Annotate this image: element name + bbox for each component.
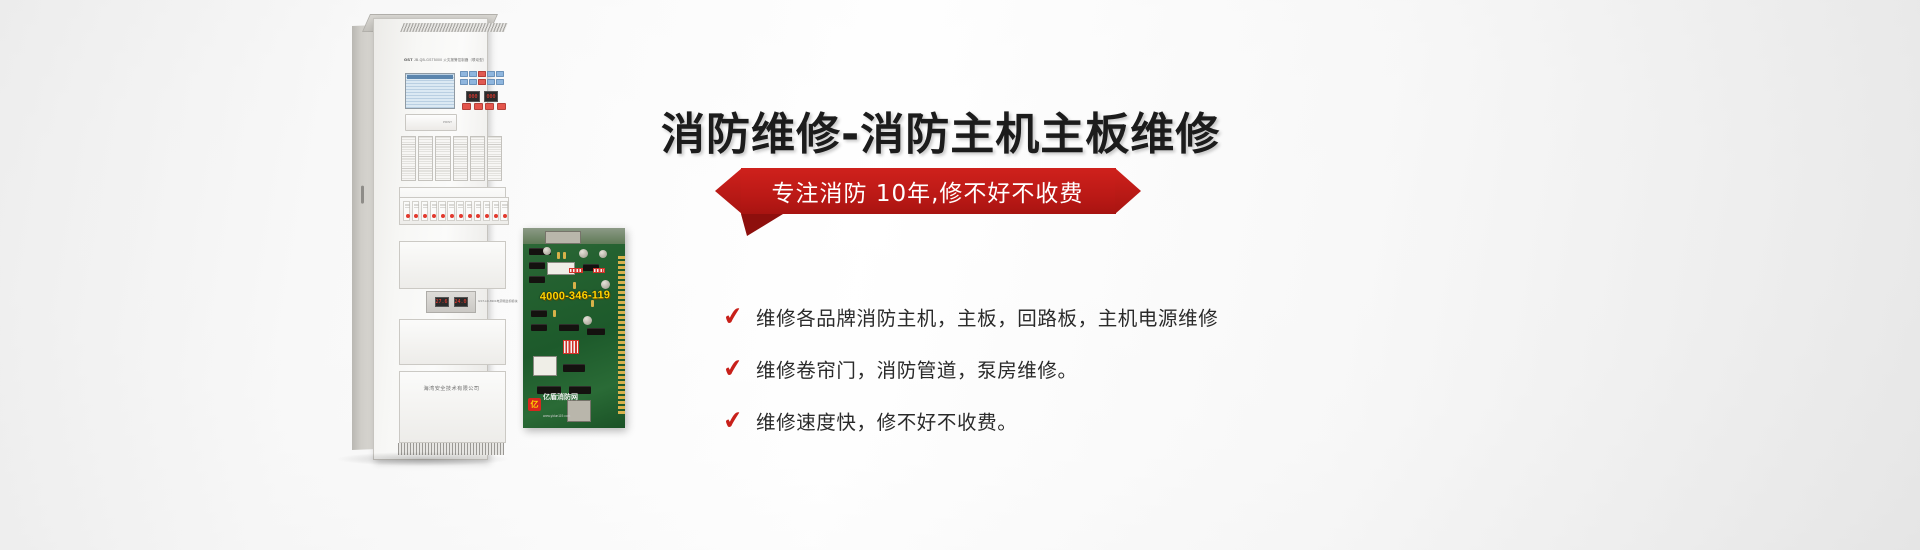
zone-indicator xyxy=(474,201,481,221)
cabinet-door-handle xyxy=(361,186,364,204)
fire-alarm-control-panel-cabinet: GST JB-QB-GST5000 火灾报警控制器（联动型） xyxy=(352,14,492,459)
cabinet-zone-indicator-strip xyxy=(399,197,509,225)
pcb-ic-chip xyxy=(531,310,547,317)
function-button[interactable] xyxy=(462,103,471,110)
keypad-row xyxy=(460,71,504,77)
terminal-module xyxy=(418,136,433,181)
zone-indicator xyxy=(430,201,437,221)
zone-indicator xyxy=(403,201,410,221)
pcb-logo-icon: 亿 xyxy=(528,398,541,411)
pcb-phone-number-overlay: 4000-346-119 xyxy=(529,289,621,303)
keypad-key[interactable] xyxy=(469,71,477,77)
pcb-dip-switch xyxy=(569,268,583,273)
list-item-label: 维修卷帘门，消防管道，泵房维修。 xyxy=(756,354,1078,383)
pcb-logo-name: 亿盾消防网 xyxy=(543,394,578,401)
keypad-key-alarm[interactable] xyxy=(478,71,486,77)
pcb-gold-edge-connector xyxy=(618,256,625,416)
pcb-surface: 4000-346-119 亿 亿盾消防网 www.yidun119.com xyxy=(523,228,625,428)
pcb-ic-chip xyxy=(531,324,547,331)
cabinet-lcd-display xyxy=(405,73,455,109)
pcb-ic-chip xyxy=(559,324,579,331)
cabinet-model-text: JB-QB-GST5000 火灾报警控制器（联动型） xyxy=(414,58,486,62)
power-panel-label: GST-LD-8301电源箱监视模块 xyxy=(478,299,518,303)
function-button[interactable] xyxy=(485,103,494,110)
check-icon: ✔ xyxy=(722,354,756,382)
zone-indicator xyxy=(456,201,463,221)
pcb-watermark-logo: 亿 亿盾消防网 www.yidun119.com xyxy=(528,386,578,422)
function-button[interactable] xyxy=(497,103,506,110)
keypad-key[interactable] xyxy=(487,79,495,85)
terminal-module xyxy=(435,136,450,181)
pcb-ic-chip xyxy=(563,364,585,372)
list-item-label: 维修各品牌消防主机，主板，回路板，主机电源维修 xyxy=(756,302,1218,331)
zone-indicator xyxy=(483,201,490,221)
printer-drawer-label: PRINT xyxy=(443,120,452,124)
pcb-resistor xyxy=(573,282,576,289)
pcb-capacitor xyxy=(601,280,610,289)
list-item-label: 维修速度快，修不好不收费。 xyxy=(756,406,1017,435)
zone-indicator xyxy=(421,201,428,221)
keypad-key[interactable] xyxy=(460,71,468,77)
zone-indicator xyxy=(412,201,419,221)
power-voltage-display-left: 27.6 xyxy=(435,297,449,307)
pcb-capacitor xyxy=(599,250,607,258)
ribbon-fold-tail xyxy=(741,214,783,236)
cabinet-front-face: GST JB-QB-GST5000 火灾报警控制器（联动型） xyxy=(373,18,488,460)
pcb-ribbon-connector xyxy=(545,231,581,244)
pcb-capacitor xyxy=(543,247,551,255)
terminal-module xyxy=(401,136,416,181)
keypad-row xyxy=(460,79,504,85)
pcb-dip-switch-red xyxy=(563,340,579,354)
function-button[interactable] xyxy=(474,103,483,110)
pcb-resistor xyxy=(557,252,560,259)
cabinet-vent-top xyxy=(400,23,508,32)
list-item: ✔ 维修各品牌消防主机，主板，回路板，主机电源维修 xyxy=(722,290,1422,342)
keypad-key[interactable] xyxy=(460,79,468,85)
cabinet-terminal-module-grid xyxy=(401,136,502,181)
cabinet-brand-label: GST JB-QB-GST5000 火灾报警控制器（联动型） xyxy=(404,57,502,65)
pcb-dip-switch xyxy=(593,268,605,273)
promo-ribbon: 专注消防 10年,修不好不收费 xyxy=(715,168,1140,214)
cabinet-seven-segment-displays: 000 000 xyxy=(466,91,498,100)
cabinet-blank-panel xyxy=(399,319,506,365)
check-icon: ✔ xyxy=(722,406,756,434)
zone-indicator xyxy=(438,201,445,221)
zone-indicator xyxy=(492,201,499,221)
cabinet-brand-text: GST xyxy=(404,57,413,62)
zone-indicator xyxy=(500,201,507,221)
pcb-resistor xyxy=(563,252,566,259)
page-title: 消防维修-消防主机主板维修 xyxy=(661,98,1220,162)
cabinet-power-monitor-panel: 27.6 24.0 xyxy=(426,291,476,313)
cabinet-printer-drawer[interactable]: PRINT xyxy=(405,114,457,131)
lcd-title-bar xyxy=(407,75,453,79)
keypad-key[interactable] xyxy=(496,71,504,77)
list-item: ✔ 维修卷帘门，消防管道，泵房维修。 xyxy=(722,342,1422,394)
pcb-capacitor xyxy=(583,316,592,325)
pcb-logo-text-group: 亿盾消防网 www.yidun119.com xyxy=(543,386,578,422)
seg-display-right: 000 xyxy=(484,91,498,102)
seg-display-left: 000 xyxy=(466,91,480,102)
feature-list: ✔ 维修各品牌消防主机，主板，回路板，主机电源维修 ✔ 维修卷帘门，消防管道，泵… xyxy=(722,290,1422,446)
ribbon-label: 专注消防 10年,修不好不收费 xyxy=(715,168,1140,214)
check-icon: ✔ xyxy=(722,302,756,330)
background-gradient xyxy=(0,0,1920,550)
pcb-ic-chip xyxy=(587,328,605,335)
circuit-board-photo: 4000-346-119 亿 亿盾消防网 www.yidun119.com xyxy=(523,228,625,428)
cabinet-function-buttons[interactable] xyxy=(462,103,506,110)
power-voltage-display-right: 24.0 xyxy=(454,297,468,307)
cabinet-blank-panel xyxy=(399,371,506,443)
promo-banner: GST JB-QB-GST5000 火灾报警控制器（联动型） xyxy=(0,0,1920,550)
cabinet-ground-shadow xyxy=(338,452,508,466)
cabinet-manufacturer-label: 海湾安全技术有限公司 xyxy=(399,385,504,392)
keypad-key[interactable] xyxy=(487,71,495,77)
pcb-logo-subtext: www.yidun119.com xyxy=(543,414,570,418)
cabinet-blank-panel xyxy=(399,241,506,289)
keypad-key-alarm[interactable] xyxy=(478,79,486,85)
terminal-module xyxy=(470,136,485,181)
terminal-module xyxy=(487,136,502,181)
pcb-resistor xyxy=(553,310,556,317)
keypad-key[interactable] xyxy=(469,79,477,85)
pcb-ic-chip xyxy=(529,262,545,269)
pcb-eprom xyxy=(533,356,557,376)
zone-indicator xyxy=(447,201,454,221)
pcb-capacitor xyxy=(579,249,588,258)
cabinet-side-panel xyxy=(352,25,375,450)
pcb-ic-chip xyxy=(529,276,545,283)
terminal-module xyxy=(453,136,468,181)
list-item: ✔ 维修速度快，修不好不收费。 xyxy=(722,394,1422,446)
keypad-key[interactable] xyxy=(496,79,504,85)
zone-indicator xyxy=(465,201,472,221)
